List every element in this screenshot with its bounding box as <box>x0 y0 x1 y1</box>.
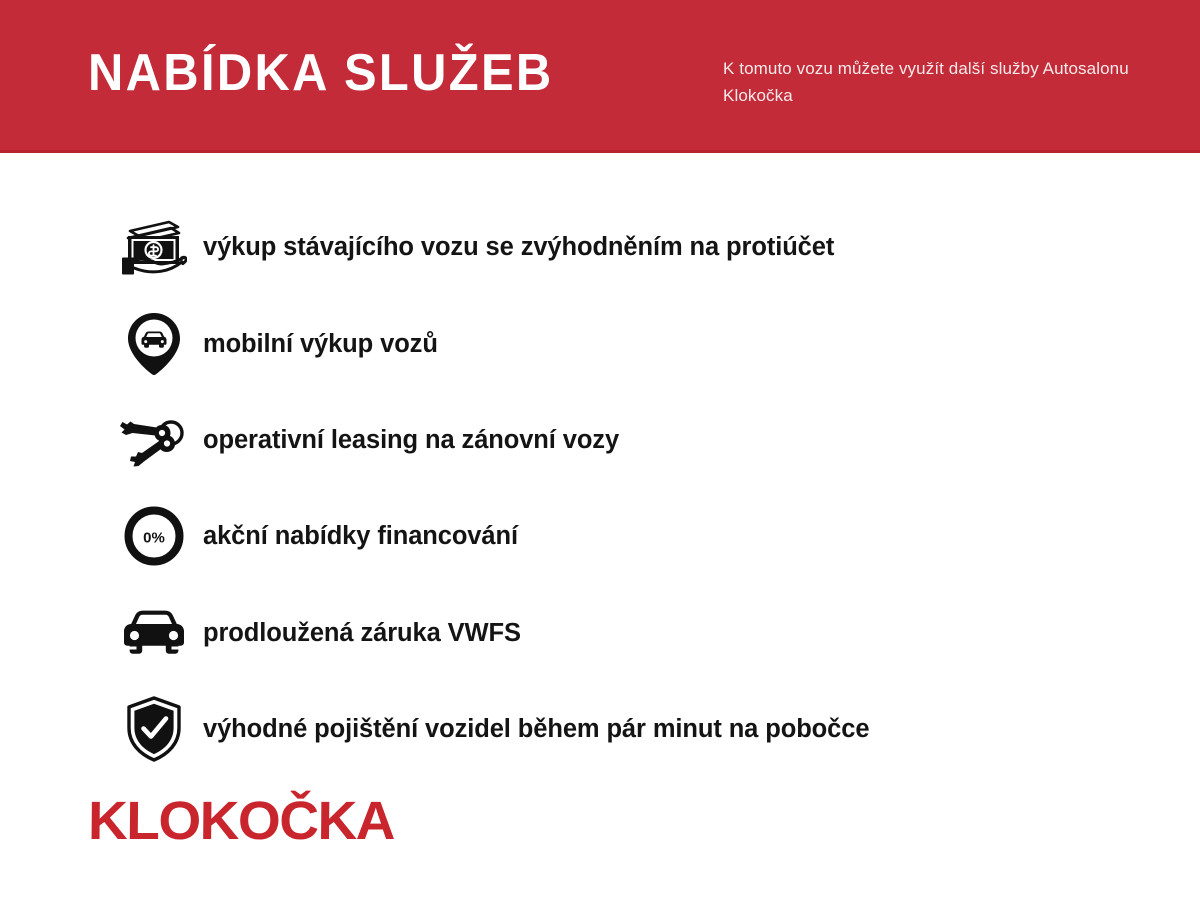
zero-percent-circle-icon: 0% <box>118 500 190 572</box>
slide-page: NABÍDKA SLUŽEB K tomuto vozu můžete využ… <box>0 0 1200 899</box>
list-item: výkup stávajícího vozu se zvýhodněním na… <box>118 208 834 286</box>
list-item: 0% akční nabídky financování <box>118 497 518 575</box>
list-item: výhodné pojištění vozidel během pár minu… <box>118 690 869 768</box>
klokocka-logo: KLOKOČKA <box>88 793 388 849</box>
page-title: NABÍDKA SLUŽEB <box>88 44 554 102</box>
brand-logo-text: KLOKOČKA <box>88 793 394 849</box>
car-keys-icon <box>118 404 190 476</box>
list-item-label: mobilní výkup vozů <box>203 329 438 359</box>
list-item: operativní leasing na zánovní vozy <box>118 401 619 479</box>
list-item-label: výhodné pojištění vozidel během pár minu… <box>203 714 869 744</box>
cash-in-hand-icon <box>118 211 190 283</box>
header-subtitle: K tomuto vozu můžete využít další služby… <box>723 55 1143 109</box>
list-item-label: výkup stávajícího vozu se zvýhodněním na… <box>203 232 834 262</box>
zero-percent-label: 0% <box>143 530 165 547</box>
list-item: prodloužená záruka VWFS <box>118 594 521 672</box>
car-front-icon <box>118 597 190 669</box>
list-item: mobilní výkup vozů <box>118 305 438 383</box>
list-item-label: akční nabídky financování <box>203 521 518 551</box>
list-item-label: operativní leasing na zánovní vozy <box>203 425 619 455</box>
header-banner: NABÍDKA SLUŽEB K tomuto vozu můžete využ… <box>0 0 1200 153</box>
shield-check-icon <box>118 693 190 765</box>
list-item-label: prodloužená záruka VWFS <box>203 618 521 648</box>
map-pin-car-icon <box>118 308 190 380</box>
